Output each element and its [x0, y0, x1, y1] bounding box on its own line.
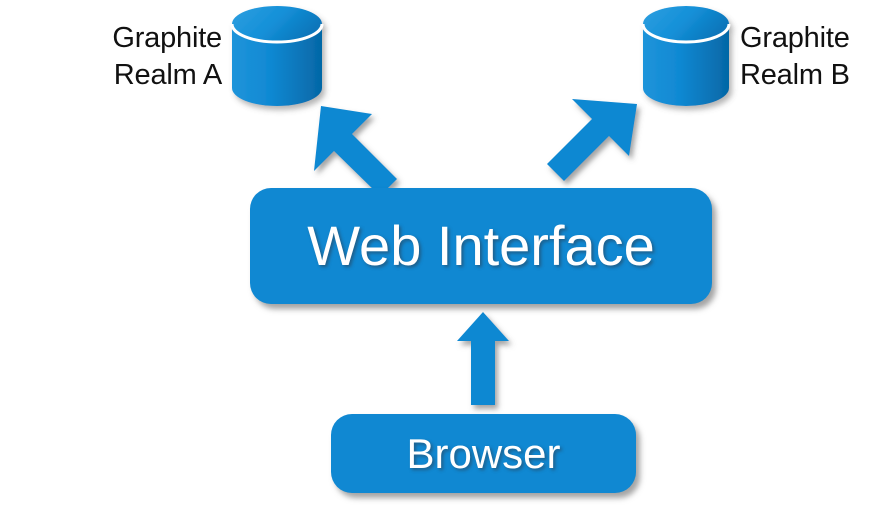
node-web-interface-label: Web Interface: [307, 218, 655, 274]
arrow-browser-to-web-interface: [457, 312, 509, 405]
datastore-realm-b-icon: [643, 6, 729, 106]
arrow-web-interface-to-realm-b: [547, 99, 637, 181]
datastore-realm-a-label: Graphite Realm A: [60, 20, 222, 94]
arrow-web-interface-to-realm-a: [314, 106, 397, 196]
node-browser[interactable]: Browser: [331, 414, 636, 493]
diagram-canvas: Graphite Realm A Graphite Realm B Web In…: [0, 0, 878, 518]
node-web-interface[interactable]: Web Interface: [250, 188, 712, 304]
datastore-realm-b-label: Graphite Realm B: [740, 20, 878, 94]
datastore-realm-a-icon: [232, 6, 322, 106]
node-browser-label: Browser: [406, 433, 560, 475]
